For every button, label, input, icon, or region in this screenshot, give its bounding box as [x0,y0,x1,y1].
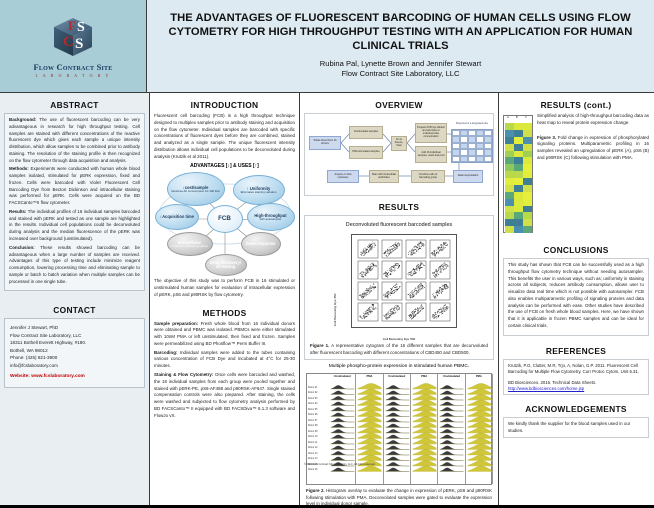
abstract-methods-text: Experiments were conducted with human wh… [9,166,140,205]
heatmap-cell [505,185,514,192]
heatmap-cell [514,185,523,192]
radial-node-drug: Drug discovery/ screening [205,254,247,276]
figure1-scatter [352,235,456,327]
methods-barcoding: Barcoding: Individual samples were added… [154,350,295,370]
flow-box-acquire: Acquire on flow cytometer [327,170,359,183]
plate-grid-icon [451,129,493,163]
heatmap-cell [523,171,532,178]
figure2-caption-label: Figure 2. [306,488,325,493]
figure2-column-header: Unstimulated [438,375,464,378]
heatmap-cell [523,206,532,213]
figure1-plot-area [351,234,457,328]
heatmap-cell [523,192,532,199]
figure2-column-header: PMA [411,375,437,378]
methods-heading: METHODS [154,308,295,318]
heatmap-cell [505,130,514,137]
svg-text:C: C [63,34,74,50]
methods-staining-label: Staining & Flow Cytometry: [154,372,213,377]
figure2-histogram-overlay: UnstimulatedPMAUnstimulatedPMAUnstimulat… [306,373,492,485]
author-list: Rubina Pal, Lynette Brown and Jennifer S… [320,59,481,69]
results-cont-body: A B C Simplified analysis of high-throug… [503,113,649,233]
flow-box-pma: PMA stimulated samples [349,146,383,159]
svg-text:S: S [75,36,83,52]
heatmap-cell [523,130,532,137]
contact-line: Bothell, WA 98012 [10,347,139,354]
heatmap-col-a: A [507,116,509,119]
radial-center-node: FCB [207,205,243,233]
figure2-column: Unstimulated [438,374,465,484]
flow-box-combine: Combine cells of barcoding group [411,170,445,183]
heatmap-cell [514,226,523,233]
heatmap-cell [523,137,532,144]
fcb-radial-diagram: FCB ↓cost/sample Reduces Ab consumption … [155,170,295,276]
figure2-column: PMA [411,374,438,484]
introduction-objective: The objective of this study was to perfo… [154,278,295,298]
heatmap-cell [514,212,523,219]
methods-sample-prep: Sample preparation: Fresh whole blood fr… [154,321,295,348]
heatmap-cell [514,144,523,151]
methods-staining: Staining & Flow Cytometry: Once cells we… [154,372,295,419]
heatmap-cell [523,212,532,219]
methods-staining-text: Once cells were barcoded and washed, the… [154,372,295,418]
figure2-row-label: Donor 14 [308,458,317,460]
column-introduction: INTRODUCTION Fluorescent cell barcoding … [150,93,300,505]
flow-box-unstim: Unstimulated samples [349,126,383,139]
heatmap-cell [514,164,523,171]
figure1-x-axis-label: Cell Barcoding Dye 500 [333,337,465,341]
figure2-title: Multiple phospho-protein expression in s… [306,364,492,371]
figure2-row-label: Donor 01 [308,387,317,389]
figure1-caption-text: A representative cytogram of the 16 diff… [310,343,488,355]
radial-node-acquisition: ↓ Acquisition time [155,204,199,230]
poster-header: F S C S Flow Contract Site L A B O R A T… [0,0,654,93]
flow-box-add-samples: Add 16 individual samples, wash and pool [415,146,447,163]
conclusions-text: This study has shown that FCB can be suc… [508,262,644,330]
page-title: THE ADVANTAGES OF FLUORESCENT BARCODING … [157,12,644,53]
lab-logo: F S C S Flow Contract Site L A B O R A T… [0,0,147,92]
radial-node-dose: Dose-response [241,232,281,256]
heatmap-cell [523,178,532,185]
results-heading: RESULTS [304,202,494,212]
heatmap-cell [505,192,514,199]
heatmap-cell [514,171,523,178]
fcs-cube-icon: F S C S [50,15,96,59]
flow-grid-caption: Dispensed in a designated tube [453,120,491,128]
heatmap-cell [505,151,514,158]
abstract-conclusion-label: Conclusion: [9,245,35,250]
column-results-cont: RESULTS (cont.) A B C Simplified analysi… [499,93,653,505]
figure2-caption: Figure 2. Histogram overlay to evaluate … [306,488,492,508]
figure2-row-label: Donor 16 [308,469,317,471]
acknowledgements-heading: ACKNOWLEDGEMENTS [503,404,649,414]
copyright-notice: ©2016 Flow Contract Site Laboratory, LLC… [304,463,376,466]
figure2-row-label: Donor 10 [308,436,317,438]
figure2-row-label: Donor 13 [308,453,317,455]
radial-node-uniformity: ↑ Uniformity Eliminates staining variati… [233,175,285,205]
flow-box-stain: Stain with intracellular antibodies [369,170,399,183]
abstract-methods-label: Methods: [9,166,29,171]
heatmap-cell [523,157,532,164]
figure2-column-header: PMA [356,375,382,378]
figure2-row-label: Donor 07 [308,420,317,422]
figure2-column: PMA [356,374,383,484]
heatmap-cell [505,157,514,164]
references-panel: Krutzik, P.O, Clutter, M.R, Trjo, A, Nol… [503,359,649,395]
heatmap-cell [505,226,514,233]
heatmap-cell [514,178,523,185]
figure3-caption-label: Figure 3. [537,135,556,140]
heatmap-cell [523,123,532,130]
radial-node-intracellular: Intracellular Cytokines, phospho-protein… [167,232,213,256]
figure2-row-label: Donor 06 [308,414,317,416]
logo-subtitle: L A B O R A T O R Y [36,73,111,78]
abstract-conclusion-text: These results showed barcoding can be ad… [9,245,140,284]
flow-box-fix-freeze: Fix & Freeze, thaw [391,136,407,151]
contact-phone: Phone: (425) 821-3900 [10,354,139,361]
figure2-column-header: PMA [466,375,492,378]
contact-heading: CONTACT [4,305,145,315]
acknowledgements-text: We kindly thank the supplier for the blo… [508,421,644,434]
references-heading: REFERENCES [503,346,649,356]
figure2-row-label: Donor 12 [308,447,317,449]
heatmap-cell [505,219,514,226]
figure2-column-header: Unstimulated [384,375,410,378]
methods-sample-prep-label: Sample preparation: [154,321,198,326]
contact-line: 18311 Bothell Everett Highway, #180. [10,339,139,346]
radial-node-cost: ↓cost/sample Reduces Ab consumption 10-1… [167,172,225,206]
svg-text:F: F [68,18,76,33]
contact-line: Jennifer J Stewart, PhD [10,324,139,331]
column-overview-results: OVERVIEW [300,93,499,505]
heatmap-cell [523,185,532,192]
figure2-column: PMA [466,374,493,484]
conclusions-heading: CONCLUSIONS [503,245,649,255]
figure2-row-label: Donor 05 [308,409,317,411]
heatmap-cell [523,151,532,158]
figure2-row-label: Donor 08 [308,425,317,427]
heatmap-cell [505,144,514,151]
title-block: THE ADVANTAGES OF FLUORESCENT BARCODING … [147,0,654,92]
figure2-row-label: Donor 11 [308,442,317,444]
heatmap-cell [505,178,514,185]
workflow-flowchart: Whole blood from 16 donors Unstimulated … [307,118,495,193]
heatmap-cell [505,123,514,130]
abstract-results-text: The individual profiles of 16 individual… [9,209,140,241]
svg-text:S: S [77,20,85,35]
figure2-column-header: Unstimulated [329,375,355,378]
heatmap-cell [514,199,523,206]
results-subtitle: Deconvoluted fluorescent barcoded sample… [308,222,490,228]
figure1-caption: Figure 1. A representative cytogram of t… [310,343,488,356]
figure2-column: Unstimulated [384,374,411,484]
heatmap-cell [514,219,523,226]
introduction-heading: INTRODUCTION [154,100,295,110]
figure2-row-label: Donor 04 [308,403,317,405]
heatmap-cell [505,137,514,144]
abstract-results: Results: The individual profiles of 16 i… [9,209,140,243]
heatmap-cell [523,144,532,151]
abstract-heading: ABSTRACT [4,100,145,110]
heatmap-cell [514,206,523,213]
heatmap-cell [505,199,514,206]
heatmap-cell [514,137,523,144]
abstract-panel: Background: The use of fluorescent barco… [4,113,145,291]
poster-root: F S C S Flow Contract Site L A B O R A T… [0,0,654,504]
figure3-heatmap: A B C [503,115,533,233]
results-panel: Deconvoluted fluorescent barcoded sample… [304,215,494,360]
figure2-row-label: Donor 09 [308,431,317,433]
overview-heading: OVERVIEW [304,100,494,110]
flow-box-prepare-dye: Prepare FCB dye dilution and add tube to… [415,123,447,143]
conclusions-panel: This study has shown that FCB can be suc… [503,258,649,336]
heatmap-cell [505,206,514,213]
heatmap-cell [505,171,514,178]
figure2-row-label: Donor 03 [308,398,317,400]
methods-barcoding-label: Barcoding: [154,350,177,355]
contact-email[interactable]: info@fcslaboratory.com [10,362,139,369]
heatmap-cell [523,226,532,233]
figure2-column: Unstimulated [329,374,356,484]
radial-node-throughput: High-throughput with autosampler [247,203,295,231]
contact-website[interactable]: Website: www.fcslaboratory.com [10,374,139,379]
heatmap-cell [514,123,523,130]
heatmap-col-c: C [525,116,527,119]
abstract-results-label: Results: [9,209,27,214]
column-abstract: ABSTRACT Background: The use of fluoresc… [0,93,150,505]
poster-columns: ABSTRACT Background: The use of fluoresc… [0,93,654,505]
abstract-methods: Methods: Experiments were conducted with… [9,166,140,207]
introduction-text: Fluorescent cell barcoding (FCB) is a hi… [154,113,295,160]
reference-link[interactable]: http://www.bdbiosciences.com/home.jsp [508,386,644,391]
figure1-cytogram: Cell Barcoding Dye 450 Cell Barcoding Dy… [333,230,465,340]
heatmap-cell [505,212,514,219]
abstract-background: Background: The use of fluorescent barco… [9,117,140,164]
abstract-background-label: Background: [9,117,36,122]
logo-company-name: Flow Contract Site [34,62,113,72]
flow-box-blood: Whole blood from 16 donors [309,136,341,150]
contact-panel: Jennifer J Stewart, PhD Flow Contract Si… [4,318,145,388]
overview-panel: Whole blood from 16 donors Unstimulated … [304,113,494,196]
abstract-conclusion: Conclusion: These results showed barcodi… [9,245,140,286]
heatmap-cell [523,219,532,226]
heatmap-cell [523,164,532,171]
figure1-y-axis-label: Cell Barcoding Dye 450 [333,317,337,326]
figure2-row-label: Donor 02 [308,392,317,394]
heatmap-cell [514,130,523,137]
advantages-heading: ADVANTAGES [↓] & USES [↑] [154,163,295,169]
heatmap-cell [523,199,532,206]
reference-item: Krutzik, P.O, Clutter, M.R, Trjo, A, Nol… [508,363,644,376]
heatmap-col-b: B [516,116,518,119]
flow-box-data: Data interpretation [453,170,483,183]
figure1-caption-label: Figure 1. [310,343,329,348]
acknowledgements-panel: We kindly thank the supplier for the blo… [503,417,649,438]
heatmap-cell [514,151,523,158]
heatmap-cell [514,157,523,164]
heatmap-cell [514,192,523,199]
abstract-background-text: The use of fluorescent barcoding can be … [9,117,140,163]
results-cont-heading: RESULTS (cont.) [503,100,649,110]
affiliation: Flow Contract Site Laboratory, LLC [341,69,459,79]
contact-line: Flow Contract Site Laboratory, LLC [10,332,139,339]
heatmap-cell [505,164,514,171]
